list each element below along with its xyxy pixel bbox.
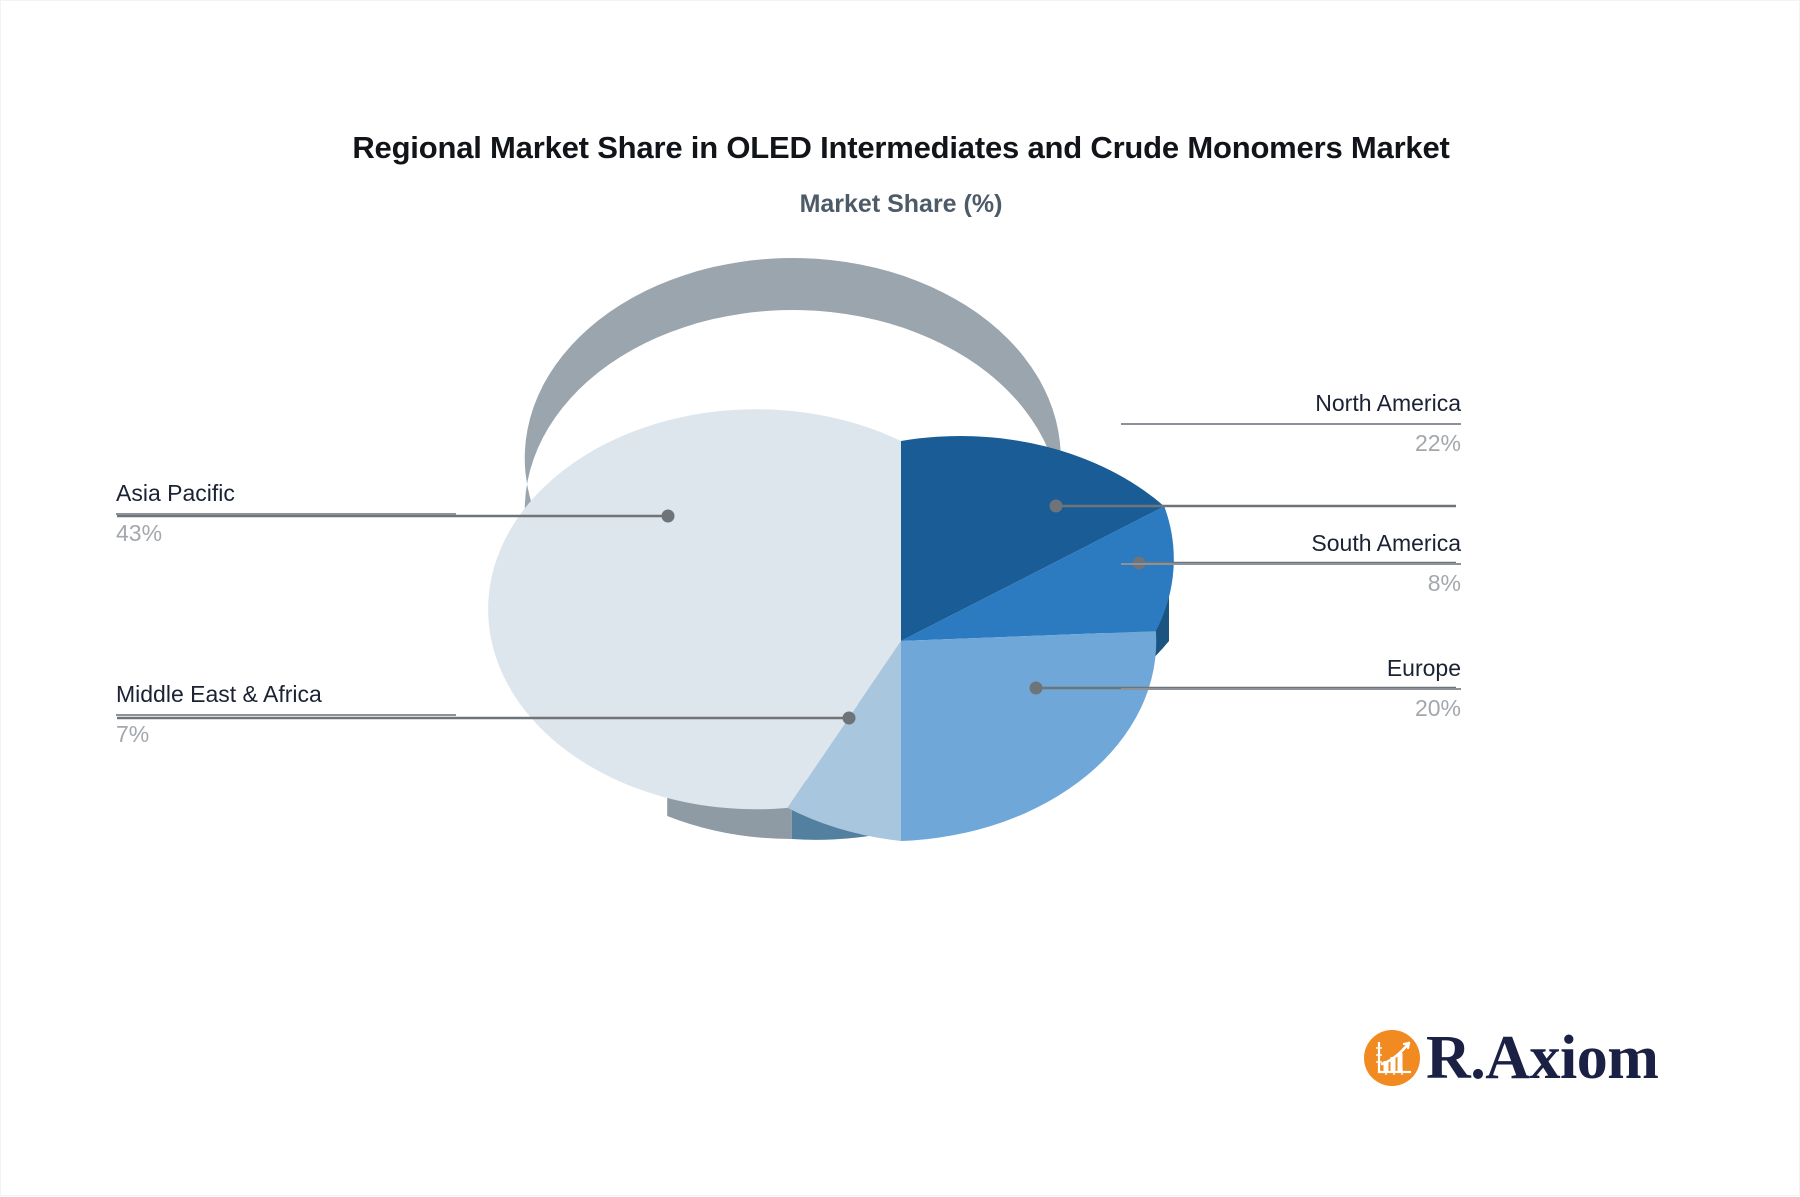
callout-label-europe: Europe <box>1121 654 1461 683</box>
callout-middle-east-africa[interactable]: Middle East & Africa 7% <box>116 680 456 749</box>
callout-value-europe: 20% <box>1121 694 1461 723</box>
callout-rule-north-america <box>1121 423 1461 425</box>
callout-rule-europe <box>1121 688 1461 690</box>
callout-rule-asia-pacific <box>116 513 456 515</box>
callout-value-south-america: 8% <box>1121 569 1461 598</box>
leader-dot-europe <box>1030 682 1043 695</box>
leader-dot-middle-east-africa <box>843 712 856 725</box>
callout-asia-pacific[interactable]: Asia Pacific 43% <box>116 479 456 548</box>
callout-value-asia-pacific: 43% <box>116 519 456 548</box>
callout-label-north-america: North America <box>1121 389 1461 418</box>
pie-slice-europe[interactable] <box>901 631 1156 841</box>
pie-chart <box>1 1 1800 1197</box>
callout-value-north-america: 22% <box>1121 429 1461 458</box>
bar-chart-icon <box>1364 1030 1420 1086</box>
pie-slices <box>488 409 1174 841</box>
callout-rule-south-america <box>1121 563 1461 565</box>
callout-label-south-america: South America <box>1121 529 1461 558</box>
callout-north-america[interactable]: North America 22% <box>1121 389 1461 458</box>
chart-page: Regional Market Share in OLED Intermedia… <box>0 0 1800 1196</box>
callout-south-america[interactable]: South America 8% <box>1121 529 1461 598</box>
callout-label-middle-east-africa: Middle East & Africa <box>116 680 456 709</box>
leader-dot-asia-pacific <box>662 510 675 523</box>
callout-label-asia-pacific: Asia Pacific <box>116 479 456 508</box>
leader-dot-north-america <box>1050 500 1063 513</box>
callout-value-middle-east-africa: 7% <box>116 720 456 749</box>
brand-name: R.Axiom <box>1426 1027 1658 1089</box>
brand-logo: R.Axiom <box>1364 1027 1658 1089</box>
callout-rule-middle-east-africa <box>116 714 456 716</box>
callout-europe[interactable]: Europe 20% <box>1121 654 1461 723</box>
